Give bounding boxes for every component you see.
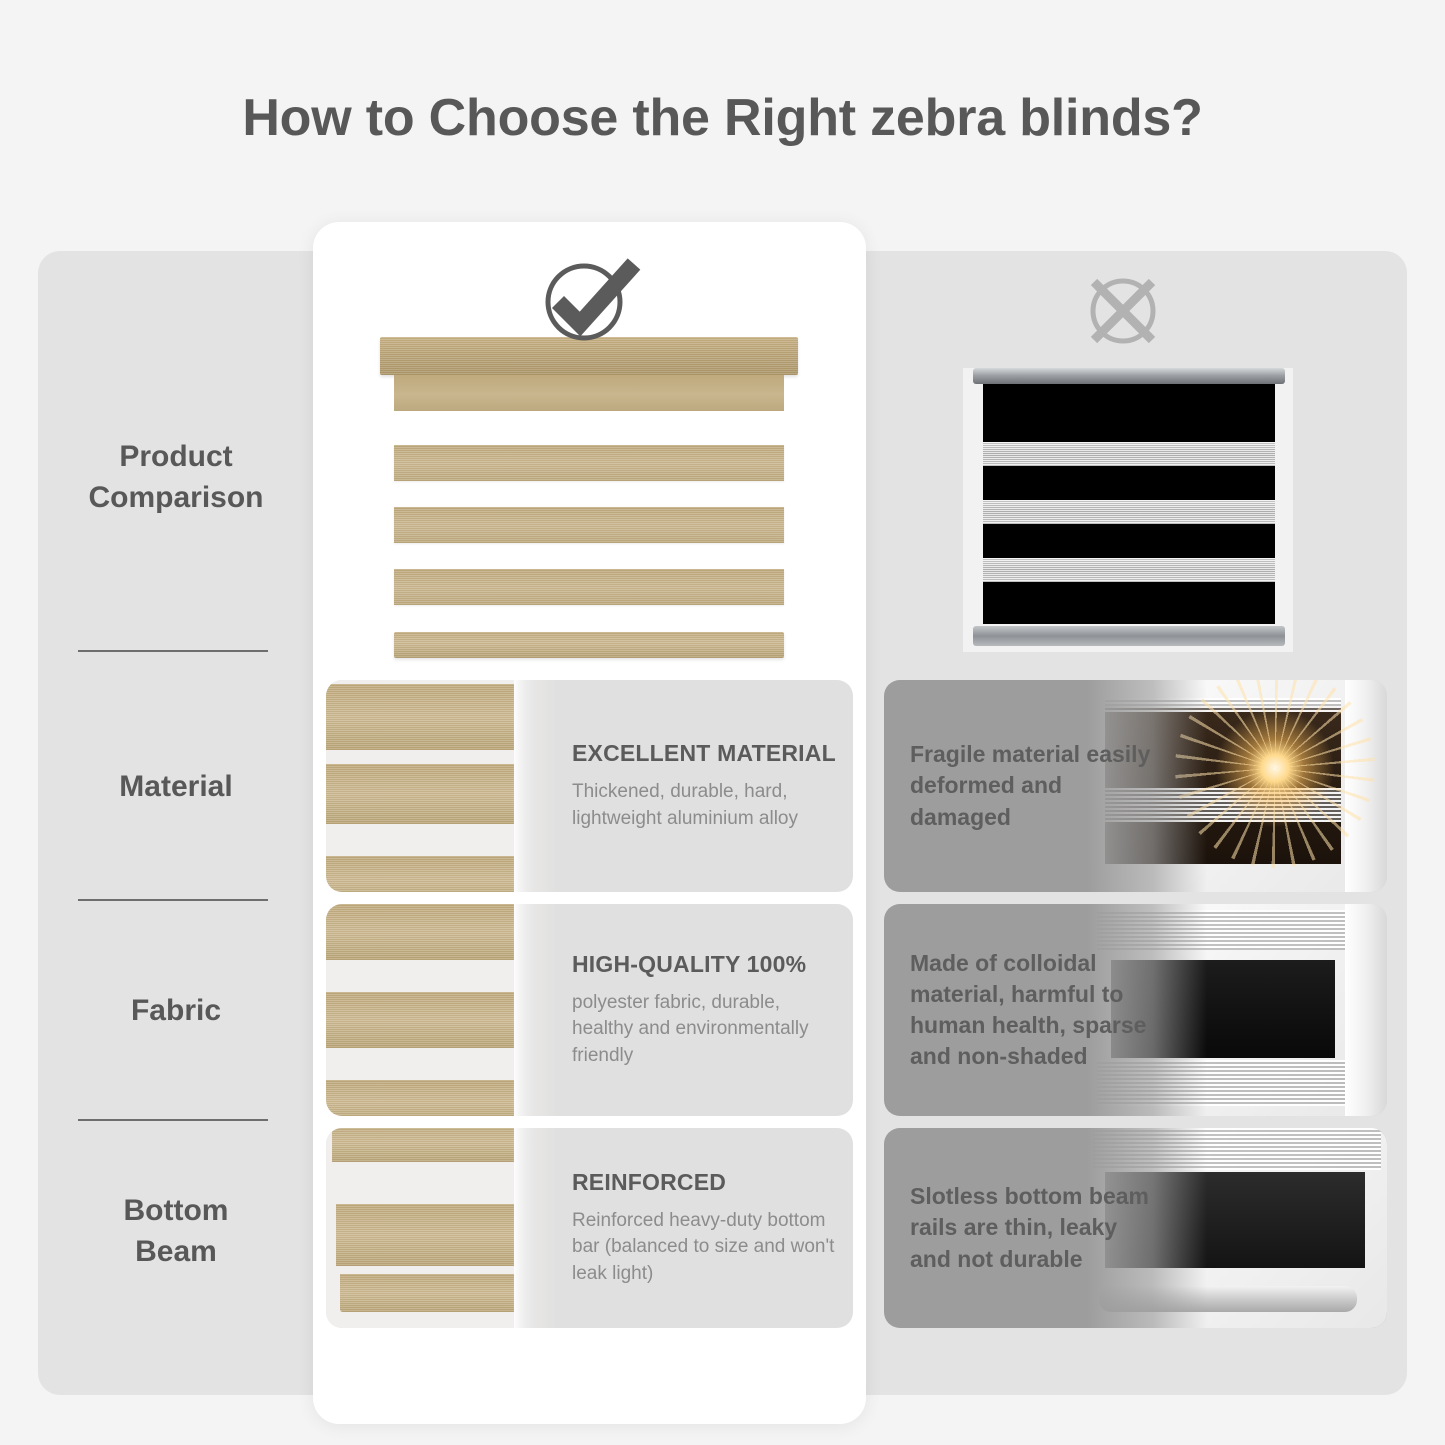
- window-frame: [514, 1128, 548, 1328]
- feature-card-fabric-good: Beige striped zebra fabric against white…: [326, 904, 853, 1116]
- feature-card-material-good: Close up of beige zebra blind in white w…: [326, 680, 853, 892]
- feature-title: EXCELLENT MATERIAL: [572, 740, 839, 767]
- row-label-fabric: Fabric: [38, 990, 314, 1031]
- row-divider-2: [78, 899, 268, 901]
- feature-photo: Beige blind reinforced bottom bar close …: [326, 1128, 558, 1328]
- sun-glare-icon: [1215, 708, 1335, 828]
- row-label-line2: Comparison: [38, 477, 314, 518]
- hero-dark-sheer-band: [983, 558, 1275, 582]
- row-label-line2: Beam: [38, 1231, 314, 1272]
- row-label-material: Material: [38, 766, 314, 807]
- hero-dark-sheer-band: [983, 442, 1275, 466]
- feature-card-bottom-beam-good: Beige blind reinforced bottom bar close …: [326, 1128, 853, 1328]
- row-label-product-comparison: Product Comparison: [38, 436, 314, 519]
- hero-dark-headrail: [973, 368, 1285, 384]
- page-title: How to Choose the Right zebra blinds?: [0, 88, 1445, 148]
- x-circle-icon: Not recommended: [1084, 272, 1162, 355]
- row-label-line1: Bottom: [38, 1190, 314, 1231]
- feature-photo-alt: Beige blind reinforced bottom bar close …: [326, 1128, 327, 1129]
- row-divider-1: [78, 650, 268, 652]
- feature-desc: Made of colloidal material, harmful to h…: [910, 948, 1160, 1072]
- feature-desc: Thickened, durable, hard, lightweight al…: [572, 779, 839, 831]
- feature-photo: Close up of beige zebra blind in white w…: [326, 680, 558, 892]
- feature-title: HIGH-QUALITY 100%: [572, 951, 839, 978]
- row-label-bottom-beam: Bottom Beam: [38, 1190, 314, 1273]
- hero-slat: [394, 507, 784, 543]
- window-frame: [514, 680, 548, 892]
- hero-product-beige-blind: Beige zebra blind with aluminium headrai…: [380, 337, 798, 667]
- feature-photo: Beige striped zebra fabric against white…: [326, 904, 558, 1116]
- feature-card-material-bad: Dark blind with sun glare leaking throug…: [884, 680, 1387, 892]
- feature-title: REINFORCED: [572, 1169, 839, 1196]
- feature-card-bottom-beam-bad: Thin slotless aluminium bottom rail Slot…: [884, 1128, 1387, 1328]
- row-label-line1: Product: [38, 436, 314, 477]
- hero-dark-sheer-band: [983, 500, 1275, 524]
- feature-desc: Reinforced heavy-duty bottom bar (balanc…: [572, 1208, 839, 1287]
- feature-photo-alt: Close up of beige zebra blind in white w…: [326, 680, 327, 681]
- feature-desc: Fragile material easily deformed and dam…: [910, 739, 1160, 832]
- feature-desc: Slotless bottom beam rails are thin, lea…: [910, 1181, 1160, 1274]
- hero-slat: [394, 445, 784, 481]
- hero-dark-bottom-rail: [973, 626, 1285, 646]
- hero-dark-alt-text: Black zebra roller blind with metal rail…: [963, 368, 964, 369]
- window-frame: [514, 904, 548, 1116]
- hero-dark-body: [983, 384, 1275, 624]
- row-divider-3: [78, 1119, 268, 1121]
- hero-slat: [394, 569, 784, 605]
- check-circle-icon: Recommended: [536, 254, 644, 351]
- feature-card-fabric-bad: Black blind fabric with sparse weave Mad…: [884, 904, 1387, 1116]
- hero-bottom-bar: [394, 632, 784, 658]
- feature-desc: polyester fabric, durable, healthy and e…: [572, 990, 839, 1069]
- hero-product-black-blind: Black zebra roller blind with metal rail…: [963, 368, 1293, 652]
